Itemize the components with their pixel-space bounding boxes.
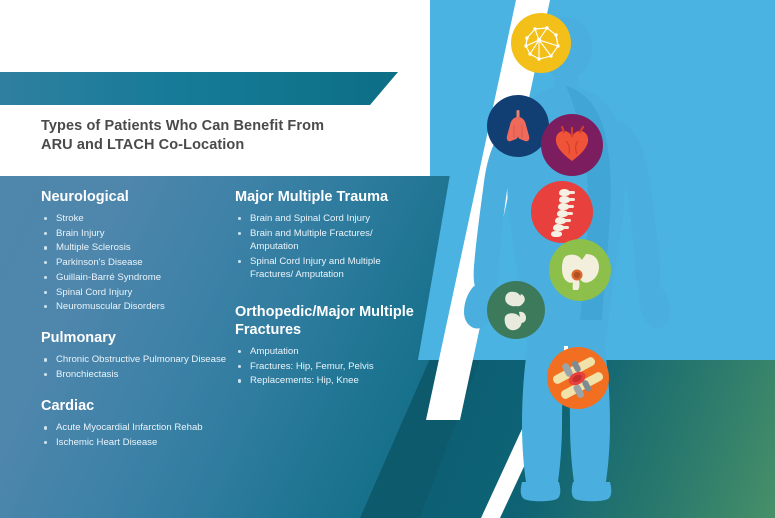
heart-icon: [541, 114, 603, 176]
knee-joint-icon: [487, 281, 545, 339]
list-item: Amputation: [235, 345, 420, 358]
list-item: Multiple Sclerosis: [41, 241, 231, 254]
section-major-multiple-trauma: Major Multiple Trauma Brain and Spinal C…: [235, 188, 420, 281]
lungs-icon: [487, 95, 549, 157]
section-heading: Major Multiple Trauma: [235, 188, 420, 206]
list-item: Brain Injury: [41, 227, 231, 240]
page-title-line-1: Types of Patients Who Can Benefit From: [41, 117, 371, 136]
section-heading: Orthopedic/Major Multiple Fractures: [235, 303, 420, 339]
section-list: Chronic Obstructive Pulmonary Disease Br…: [41, 353, 231, 381]
list-item: Stroke: [41, 212, 231, 225]
pelvis-icon: [549, 239, 611, 301]
page-title: Types of Patients Who Can Benefit From A…: [41, 117, 371, 155]
section-heading: Pulmonary: [41, 329, 231, 347]
infographic-canvas: Types of Patients Who Can Benefit From A…: [0, 0, 775, 518]
list-item: Neuromuscular Disorders: [41, 300, 231, 313]
header-accent-bar: [0, 72, 398, 105]
list-item: Spinal Cord Injury and Multiple Fracture…: [235, 255, 420, 281]
list-item: Chronic Obstructive Pulmonary Disease: [41, 353, 231, 366]
section-list: Acute Myocardial Infarction Rehab Ischem…: [41, 421, 231, 449]
section-list: Stroke Brain Injury Multiple Sclerosis P…: [41, 212, 231, 313]
column-right: Major Multiple Trauma Brain and Spinal C…: [235, 188, 420, 404]
column-left: Neurological Stroke Brain Injury Multipl…: [41, 188, 231, 465]
list-item: Acute Myocardial Infarction Rehab: [41, 421, 231, 434]
list-item: Brain and Multiple Fractures/ Amputation: [235, 227, 420, 253]
brain-icon: [511, 13, 571, 73]
list-item: Replacements: Hip, Knee: [235, 374, 420, 387]
section-heading: Neurological: [41, 188, 231, 206]
section-heading: Cardiac: [41, 397, 231, 415]
list-item: Bronchiectasis: [41, 368, 231, 381]
section-list: Amputation Fractures: Hip, Femur, Pelvis…: [235, 345, 420, 388]
list-item: Spinal Cord Injury: [41, 286, 231, 299]
list-item: Fractures: Hip, Femur, Pelvis: [235, 360, 420, 373]
section-orthopedic: Orthopedic/Major Multiple Fractures Ampu…: [235, 303, 420, 388]
section-neurological: Neurological Stroke Brain Injury Multipl…: [41, 188, 231, 313]
section-pulmonary: Pulmonary Chronic Obstructive Pulmonary …: [41, 329, 231, 381]
list-item: Guillain-Barré Syndrome: [41, 271, 231, 284]
list-item: Ischemic Heart Disease: [41, 436, 231, 449]
spine-icon: [531, 181, 593, 243]
section-list: Brain and Spinal Cord Injury Brain and M…: [235, 212, 420, 281]
list-item: Brain and Spinal Cord Injury: [235, 212, 420, 225]
page-title-line-2: ARU and LTACH Co-Location: [41, 136, 371, 155]
section-cardiac: Cardiac Acute Myocardial Infarction Reha…: [41, 397, 231, 449]
list-item: Parkinson's Disease: [41, 256, 231, 269]
knee-replacement-icon: [547, 347, 609, 409]
